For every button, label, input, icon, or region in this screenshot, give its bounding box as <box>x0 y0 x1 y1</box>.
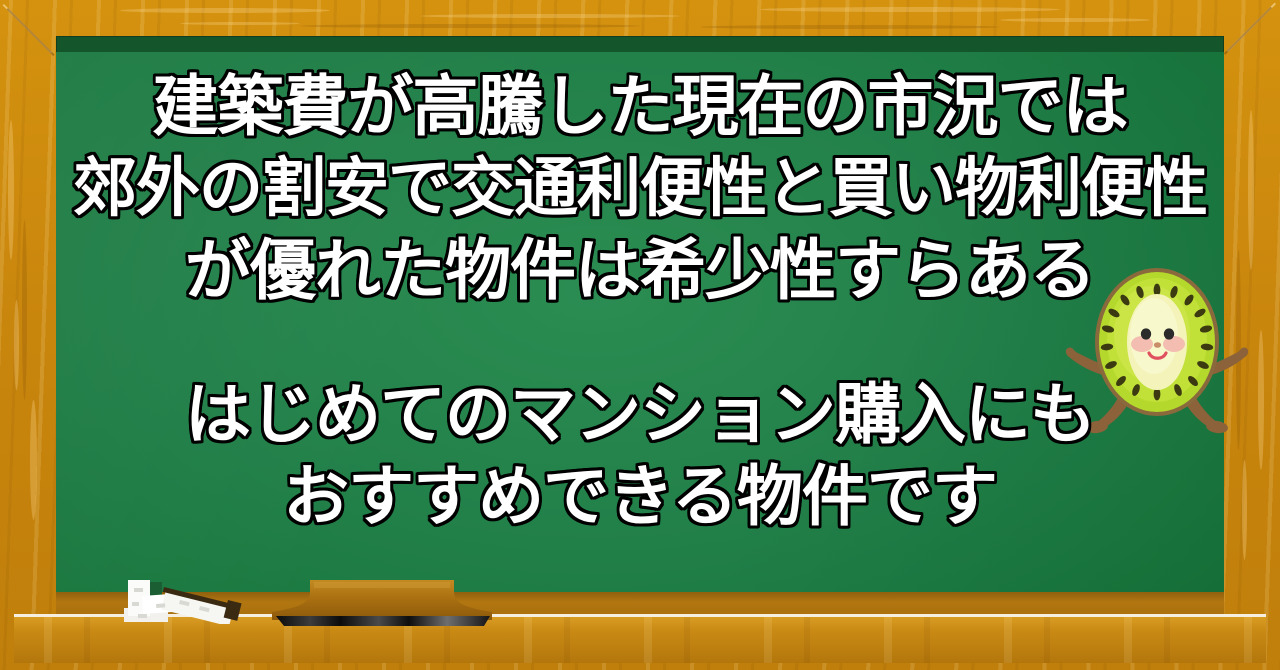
blackboard-eraser-icon <box>252 578 512 628</box>
subline-2: おすすめできる物件です <box>283 456 997 538</box>
headline-line-1: 建築費が高騰した現在の市況では <box>153 66 1128 148</box>
headline-line-2: 郊外の割安で交通利便性と買い物利便性 <box>73 148 1207 230</box>
subline-1: はじめてのマンション購入にも <box>185 374 1095 456</box>
chalkboard-scene: 建築費が高騰した現在の市況では 郊外の割安で交通利便性と買い物利便性 が優れた物… <box>0 0 1280 670</box>
chalkboard-text-block: 建築費が高騰した現在の市況では 郊外の割安で交通利便性と買い物利便性 が優れた物… <box>56 52 1224 596</box>
headline-line-3: が優れた物件は希少性すらある <box>185 230 1095 312</box>
eraser-felt <box>276 616 490 626</box>
